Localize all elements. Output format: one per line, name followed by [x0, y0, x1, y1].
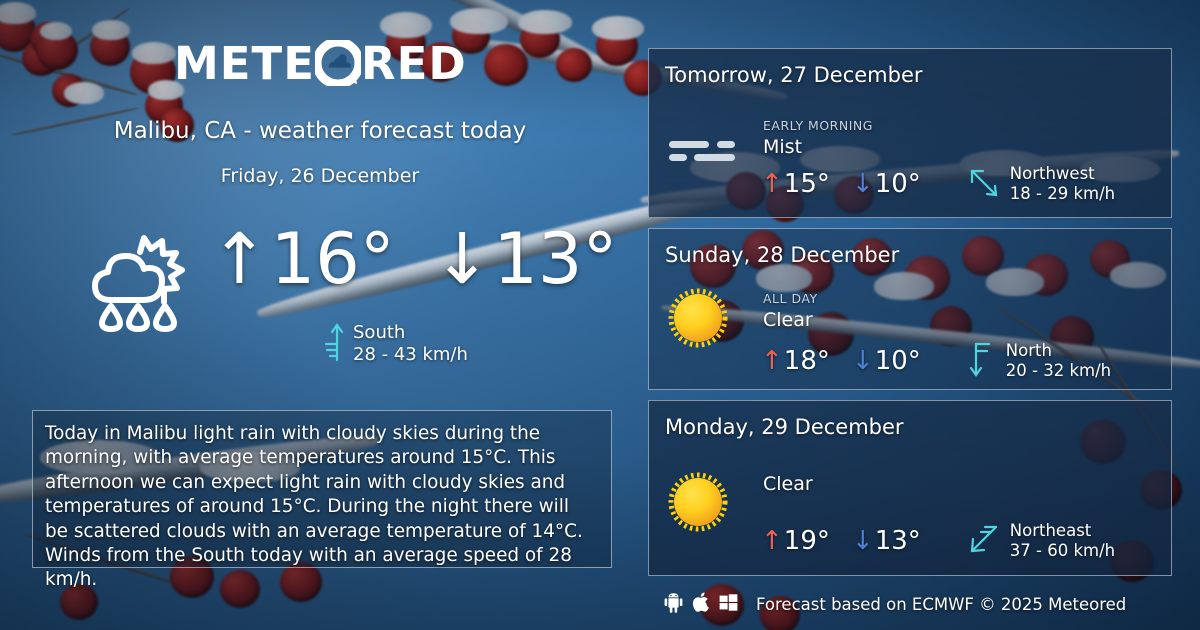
current-max-temp-value: 16°: [271, 224, 395, 294]
current-wind: South 28 - 43 km/h: [323, 322, 468, 366]
meteored-logo[interactable]: METE RED: [174, 40, 467, 86]
forecast-wind-direction: North: [1006, 341, 1111, 361]
forecast-description-box: Today in Malibu light rain with cloudy s…: [32, 410, 612, 568]
arrow-down-icon: ↓: [852, 348, 874, 374]
arrow-up-icon: ↑: [761, 171, 783, 197]
current-wind-direction: South: [353, 322, 468, 344]
forecast-min-temp: ↓ 10°: [852, 348, 921, 374]
wind-barb-northwest-icon: [967, 165, 1001, 203]
android-icon[interactable]: [664, 593, 683, 617]
wind-barb-north-icon: [967, 341, 997, 381]
page-title: Malibu, CA - weather forecast today: [0, 118, 640, 144]
forecast-max-temp-value: 15°: [784, 171, 830, 197]
forecast-min-temp: ↓ 10°: [852, 171, 921, 197]
arrow-up-icon: ↑: [761, 348, 783, 374]
sun-icon: [667, 471, 729, 537]
forecast-min-temp-value: 10°: [875, 348, 921, 374]
forecast-condition-block: ALL DAY Clear: [763, 291, 818, 331]
forecast-max-temp: ↑ 15°: [761, 171, 830, 197]
logo-text-part1: METE: [174, 41, 315, 86]
forecast-card-day: Sunday, 28 December: [665, 243, 899, 267]
forecast-time-label: ALL DAY: [763, 291, 818, 306]
forecast-time-label: EARLY MORNING: [763, 118, 873, 133]
apple-icon[interactable]: [692, 592, 710, 617]
forecast-description-text: Today in Malibu light rain with cloudy s…: [45, 422, 597, 593]
arrow-down-icon: ↓: [433, 224, 492, 294]
forecast-card-tomorrow[interactable]: Tomorrow, 27 December EARLY MORNING Mist: [648, 48, 1172, 218]
windows-icon[interactable]: [719, 593, 738, 616]
arrow-down-icon: ↓: [852, 528, 874, 554]
forecast-max-temp-value: 19°: [784, 528, 830, 554]
wind-barb-northeast-icon: [967, 522, 1001, 560]
forecast-card-sunday[interactable]: Sunday, 28 December: [648, 228, 1172, 390]
mist-icon: [667, 137, 739, 175]
current-min-temp-value: 13°: [493, 224, 617, 294]
forecast-max-temp-value: 18°: [784, 348, 830, 374]
current-min-temp: ↓ 13°: [433, 224, 618, 294]
arrow-up-icon: ↑: [210, 224, 269, 294]
rain-cloud-sun-icon: [85, 222, 197, 338]
footer: Forecast based on ECMWF © 2025 Meteored: [664, 592, 1126, 617]
forecast-condition: Mist: [763, 136, 873, 158]
forecast-wind-speed: 18 - 29 km/h: [1010, 184, 1115, 204]
forecast-condition-block: EARLY MORNING Mist: [763, 118, 873, 158]
forecast-condition: Clear: [763, 309, 818, 331]
current-wind-speed: 28 - 43 km/h: [353, 344, 468, 366]
current-weather-panel: METE RED Malibu, CA - weather forecast t…: [0, 0, 640, 630]
wind-barb-south-icon: [323, 322, 343, 366]
forecast-card-day: Monday, 29 December: [665, 415, 904, 439]
logo-cloud-sun-icon: [315, 40, 361, 86]
forecast-wind-speed: 20 - 32 km/h: [1006, 361, 1111, 381]
arrow-down-icon: ↓: [852, 171, 874, 197]
arrow-up-icon: ↑: [761, 528, 783, 554]
forecast-wind-direction: Northwest: [1010, 164, 1115, 184]
forecast-max-temp: ↑ 18°: [761, 348, 830, 374]
forecast-min-temp-value: 10°: [875, 171, 921, 197]
forecast-wind-speed: 37 - 60 km/h: [1010, 541, 1115, 561]
forecast-condition: Clear: [763, 473, 813, 495]
forecast-date: Friday, 26 December: [0, 165, 640, 187]
forecast-min-temp-value: 13°: [875, 528, 921, 554]
forecast-condition-block: Clear: [763, 473, 813, 495]
current-max-temp: ↑ 16°: [210, 224, 395, 294]
forecast-max-temp: ↑ 19°: [761, 528, 830, 554]
forecast-card-monday[interactable]: Monday, 29 December Clear: [648, 400, 1172, 576]
sun-icon: [667, 287, 729, 353]
forecast-min-temp: ↓ 13°: [852, 528, 921, 554]
forecast-card-day: Tomorrow, 27 December: [665, 63, 923, 87]
current-temperatures: ↑ 16° ↓ 13°: [210, 224, 617, 294]
logo-text-part2: RED: [361, 41, 467, 86]
forecast-wind-direction: Northeast: [1010, 521, 1115, 541]
footer-credit: Forecast based on ECMWF © 2025 Meteored: [756, 595, 1126, 614]
